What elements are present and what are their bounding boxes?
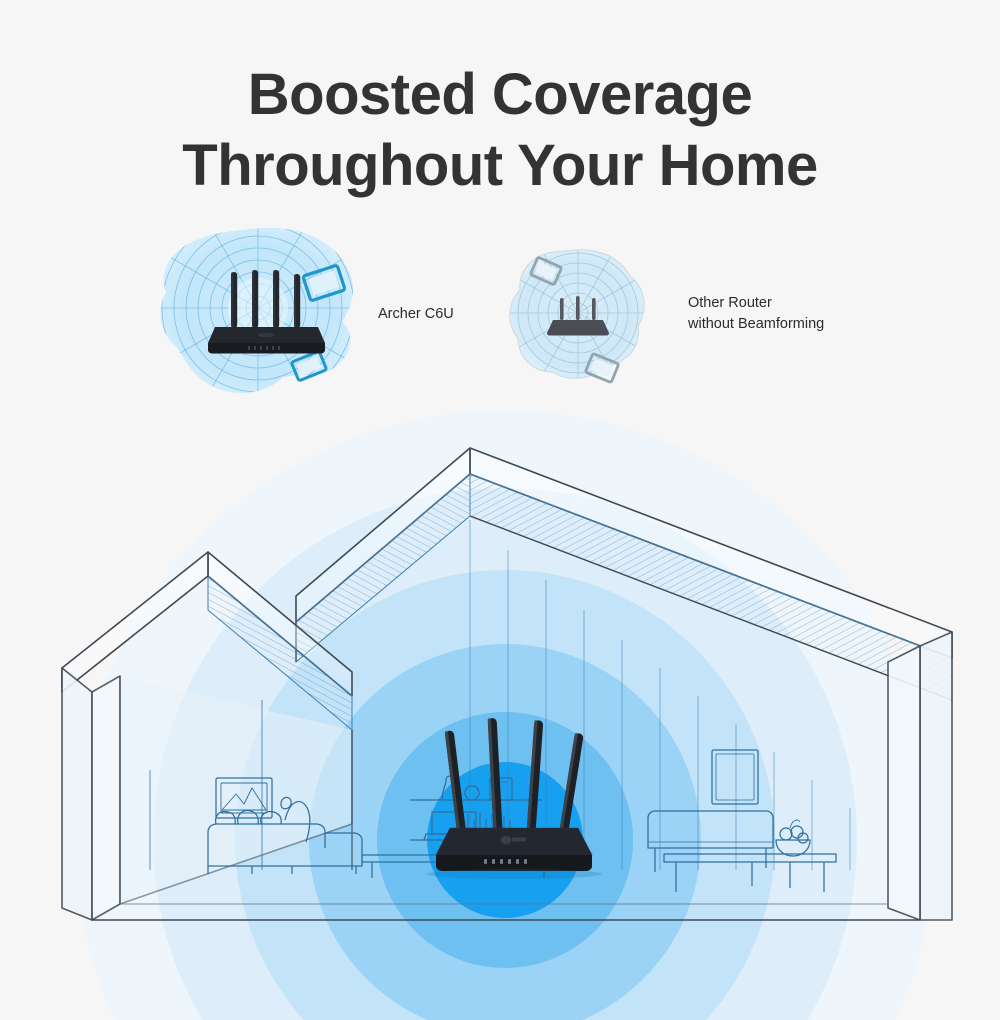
wall-left-cut-face bbox=[62, 668, 92, 920]
label-archer-c6u: Archer C6U bbox=[378, 304, 454, 325]
router-shadow bbox=[426, 869, 602, 879]
wall-right-cut-face bbox=[920, 632, 952, 920]
label-other-router: Other Router without Beamforming bbox=[688, 293, 824, 334]
wall-right-side bbox=[888, 646, 920, 920]
wall-left-side bbox=[92, 676, 120, 920]
router-front-face bbox=[436, 855, 592, 871]
coverage-comparison-diagram bbox=[0, 0, 1000, 420]
illustration-stage: Boosted Coverage Throughout Your Home bbox=[0, 0, 1000, 1000]
house-coverage-scene bbox=[0, 400, 1000, 1020]
